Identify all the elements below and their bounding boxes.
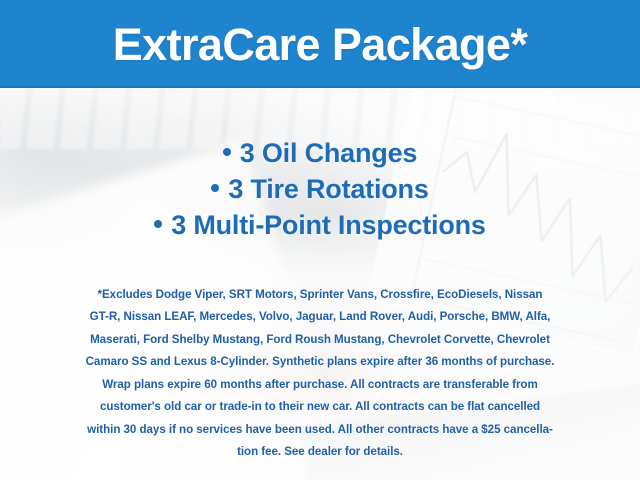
fineprint-line: tion fee. See dealer for details. xyxy=(42,441,598,463)
bullet-dot-icon xyxy=(154,220,162,228)
list-item: 3 Oil Changes xyxy=(0,136,640,172)
fineprint-line: Wrap plans expire 60 months after purcha… xyxy=(42,374,598,396)
benefits-list: 3 Oil Changes 3 Tire Rotations 3 Multi-P… xyxy=(0,136,640,244)
fineprint-line: *Excludes Dodge Viper, SRT Motors, Sprin… xyxy=(42,284,598,306)
benefit-label: 3 Oil Changes xyxy=(240,138,417,168)
list-item: 3 Multi-Point Inspections xyxy=(0,208,640,244)
fineprint-line: within 30 days if no services have been … xyxy=(42,419,598,441)
bullet-dot-icon xyxy=(211,184,219,192)
extracare-package-ad: ExtraCare Package* 3 Oil Changes 3 Tire … xyxy=(0,0,640,480)
fineprint-disclaimer: *Excludes Dodge Viper, SRT Motors, Sprin… xyxy=(42,284,598,464)
benefit-label: 3 Tire Rotations xyxy=(228,174,428,204)
ad-content: 3 Oil Changes 3 Tire Rotations 3 Multi-P… xyxy=(0,88,640,480)
header-banner: ExtraCare Package* xyxy=(0,0,640,88)
fineprint-line: GT-R, Nissan LEAF, Mercedes, Volvo, Jagu… xyxy=(42,306,598,328)
fineprint-line: Maserati, Ford Shelby Mustang, Ford Rous… xyxy=(42,329,598,351)
page-title: ExtraCare Package* xyxy=(113,22,527,67)
fineprint-line: Camaro SS and Lexus 8-Cylinder. Syntheti… xyxy=(42,351,598,373)
fineprint-line: customer's old car or trade-in to their … xyxy=(42,396,598,418)
benefit-label: 3 Multi-Point Inspections xyxy=(171,210,486,240)
list-item: 3 Tire Rotations xyxy=(0,172,640,208)
bullet-dot-icon xyxy=(223,148,231,156)
